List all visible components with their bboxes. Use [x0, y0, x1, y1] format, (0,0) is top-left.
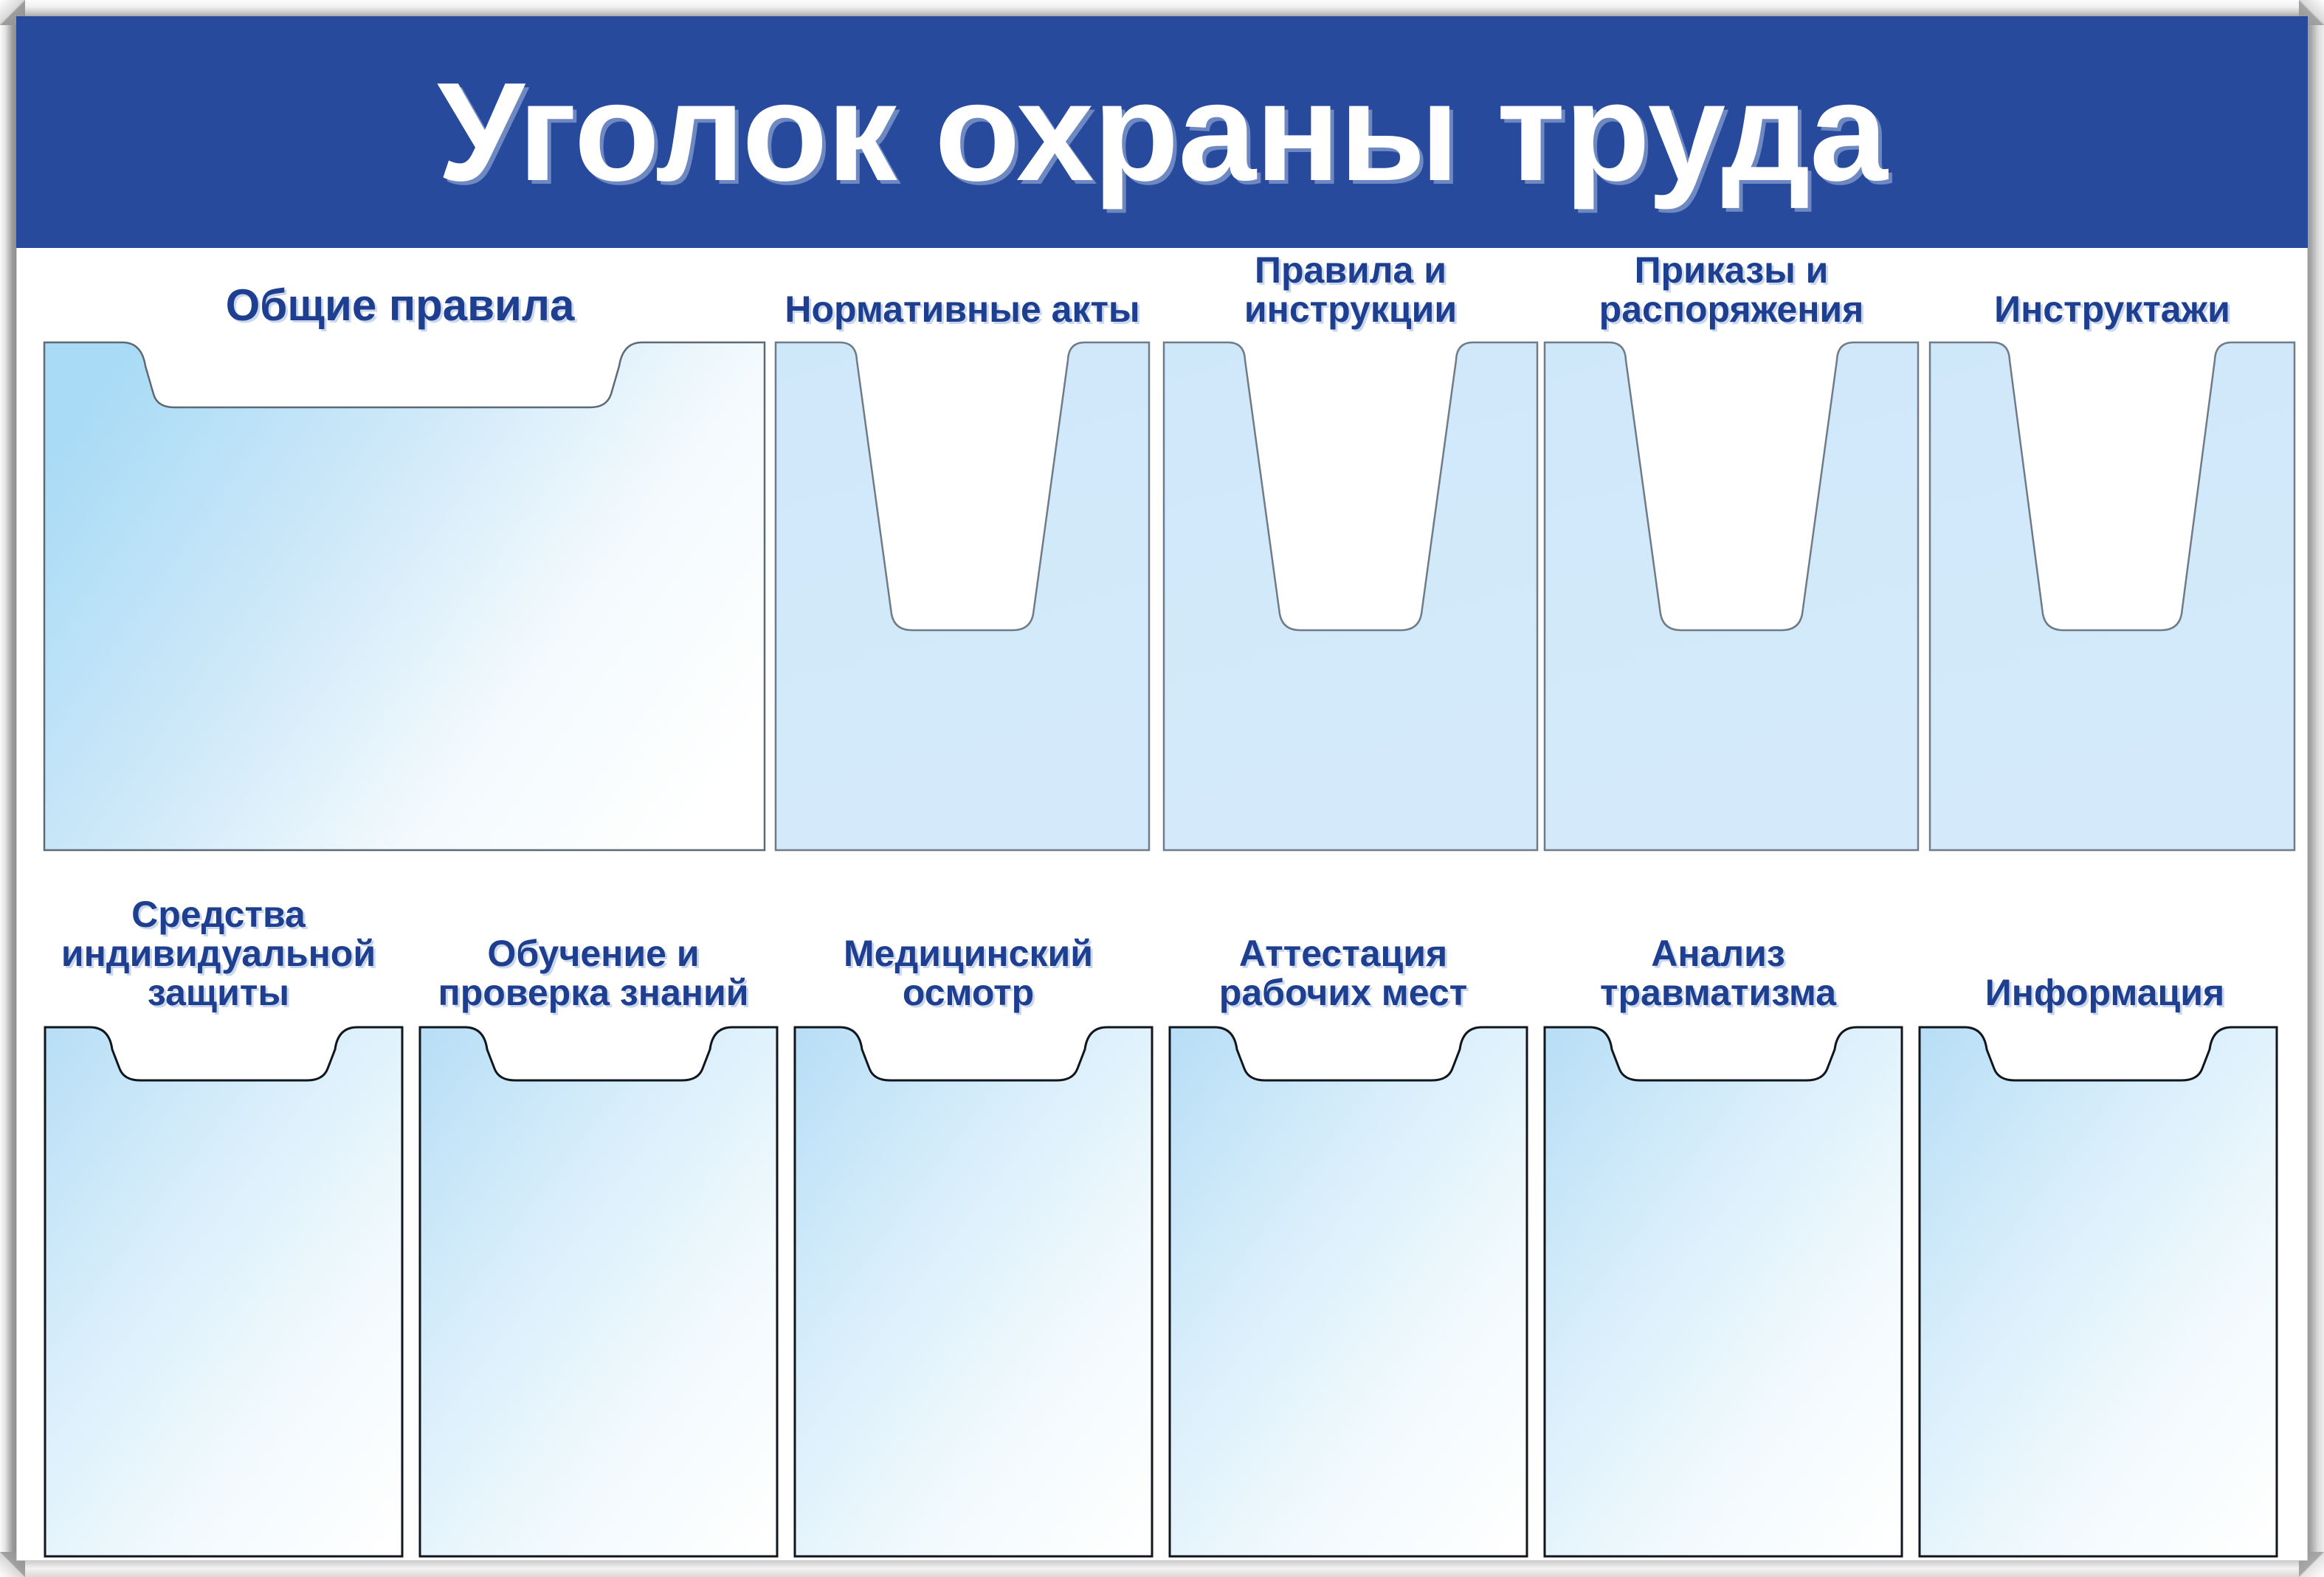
- pocket-medicinskiy-osmotr[interactable]: [793, 1020, 1154, 1559]
- caption-obshchie-pravila: Общие правила: [46, 264, 754, 329]
- caption-prikazy-i-rasporyazheniya: Приказы и распоряжения: [1542, 229, 1920, 329]
- title-banner: Уголок охраны труда: [16, 16, 2308, 248]
- pocket-informaciya[interactable]: [1917, 1020, 2279, 1559]
- frame-edge-left: [0, 0, 18, 1577]
- board-face: Уголок охраны труда Общие правила Нормат…: [16, 16, 2308, 1561]
- caption-analiz-travmatizma: Анализ травматизма: [1534, 888, 1903, 1012]
- caption-normativnye-akty: Нормативные акты: [773, 270, 1151, 329]
- caption-instruktazhi: Инструктажи: [1928, 270, 2297, 329]
- caption-medicinskiy-osmotr: Медицинский осмотр: [784, 888, 1153, 1012]
- pocket-instruktazhi[interactable]: [1928, 335, 2297, 852]
- pocket-area: Общие правила Нормативные акты Правила и…: [16, 248, 2308, 1561]
- pocket-attestaciya-rabochih-mest[interactable]: [1168, 1020, 1529, 1559]
- board-title: Уголок охраны труда: [16, 16, 2308, 248]
- frame-edge-top: [0, 0, 2324, 18]
- frame-edge-right: [2308, 0, 2324, 1577]
- caption-pravila-i-instrukcii: Правила и инструкции: [1162, 229, 1539, 329]
- pocket-obshchie-pravila[interactable]: [43, 335, 766, 852]
- pocket-normativnye-akty[interactable]: [773, 335, 1151, 852]
- caption-sredstva-individualnoy-zashchity: Средства индивидуальной защиты: [34, 865, 403, 1012]
- pocket-pravila-i-instrukcii[interactable]: [1162, 335, 1539, 852]
- pocket-sredstva-individualnoy-zashchity[interactable]: [43, 1020, 404, 1559]
- caption-obuchenie-i-proverka-znaniy: Обучение и проверка знаний: [409, 888, 778, 1012]
- pocket-obuchenie-i-proverka-znaniy[interactable]: [418, 1020, 779, 1559]
- pocket-analiz-travmatizma[interactable]: [1542, 1020, 1904, 1559]
- caption-attestaciya-rabochih-mest: Аттестация рабочих мест: [1159, 888, 1528, 1012]
- information-board-frame: Уголок охраны труда Общие правила Нормат…: [0, 0, 2324, 1577]
- pocket-prikazy-i-rasporyazheniya[interactable]: [1542, 335, 1920, 852]
- caption-informaciya: Информация: [1913, 925, 2297, 1012]
